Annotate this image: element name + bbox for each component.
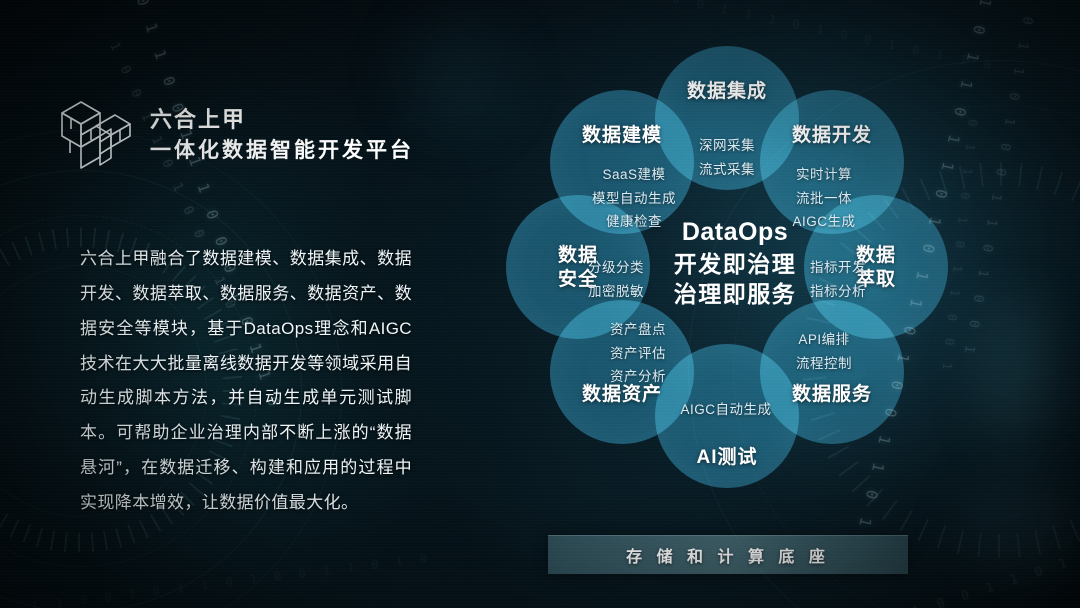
presentation-slide: 0 1 1 0 0 1 1 1 0 0 0 1 0 1 1 0 1 0 0 1 … (0, 0, 1080, 608)
brand-name: 六合上甲 (150, 108, 414, 132)
venn-diagram: 数据集成 数据开发 数据 萃取 数据服务 AI测试 数据资产 数据 安全 数据建… (460, 28, 1000, 528)
isometric-brick-wall-logo-icon (58, 96, 134, 174)
description-paragraph: 六合上甲融合了数据建模、数据集成、数据开发、数据萃取、数据服务、数据资产、数据安… (80, 242, 412, 521)
venn-lobe-data-modeling[interactable] (550, 90, 694, 234)
foundation-label: 存 储 和 计 算 底 座 (626, 543, 830, 567)
brand-subtitle: 一体化数据智能开发平台 (150, 139, 414, 162)
brand-titles: 六合上甲 一体化数据智能开发平台 (150, 108, 414, 161)
brand-lockup: 六合上甲 一体化数据智能开发平台 (58, 96, 414, 174)
foundation-bar: 存 储 和 计 算 底 座 (548, 535, 908, 574)
